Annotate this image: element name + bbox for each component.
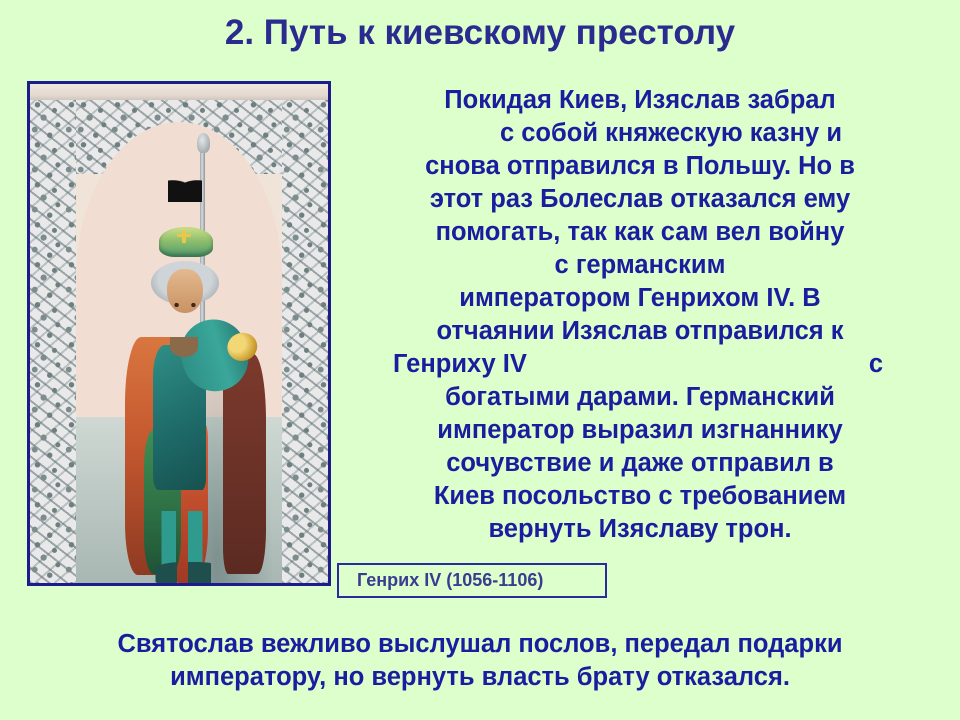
crown-icon [159,227,213,257]
plate-top-strip [30,84,328,100]
footer-conclusion: Святослав вежливо выслушал послов, перед… [0,628,960,694]
body-line-13: Киев посольство с требованием [345,480,935,513]
ornate-border-right [282,100,328,583]
emperor-figure [138,159,245,583]
body-line-9: Генриху IV с [345,348,935,381]
body-line-11: император выразил изгнаннику [345,414,935,447]
body-line-9-right: с [869,348,883,381]
illustration-henry-iv [27,81,331,586]
footer-line-2: императору, но вернуть власть брату отка… [0,661,960,694]
body-line-10: богатыми дарами. Германский [345,381,935,414]
presentation-slide: 2. Путь к киевскому престолу [0,0,960,720]
body-paragraph: Покидая Киев, Изяслав забрал с собой кня… [345,84,935,546]
caption-label: Генрих IV (1056-1106) [357,570,543,591]
body-line-6: с германским [345,249,935,282]
body-line-12: сочувствие и даже отправил в [345,447,935,480]
shoes [151,562,228,583]
eyes [171,303,199,307]
body-line-7: императором Генрихом IV. В [345,282,935,315]
scepter-finial-icon [197,133,210,153]
caption-box-henry-iv: Генрих IV (1056-1106) [337,563,607,598]
body-line-5: помогать, так как сам вел войну [345,216,935,249]
body-line-8: отчаянии Изяслав отправился к [345,315,935,348]
body-line-1: Покидая Киев, Изяслав забрал [345,84,935,117]
crown-cross-icon [182,230,186,243]
body-line-3: снова отправился в Польшу. Но в [345,150,935,183]
footer-line-1: Святослав вежливо выслушал послов, перед… [0,628,960,661]
imperial-eagle-icon [168,180,202,202]
body-line-9-left: Генриху IV [393,348,527,381]
slide-title: 2. Путь к киевскому престолу [0,12,960,54]
arch-interior [76,122,282,583]
ornate-border-left [30,100,76,583]
beard [170,337,198,357]
body-line-2: с собой княжескую казну и [345,117,935,150]
body-line-14: вернуть Изяславу трон. [345,513,935,546]
body-line-4: этот раз Болеслав отказался ему [345,183,935,216]
